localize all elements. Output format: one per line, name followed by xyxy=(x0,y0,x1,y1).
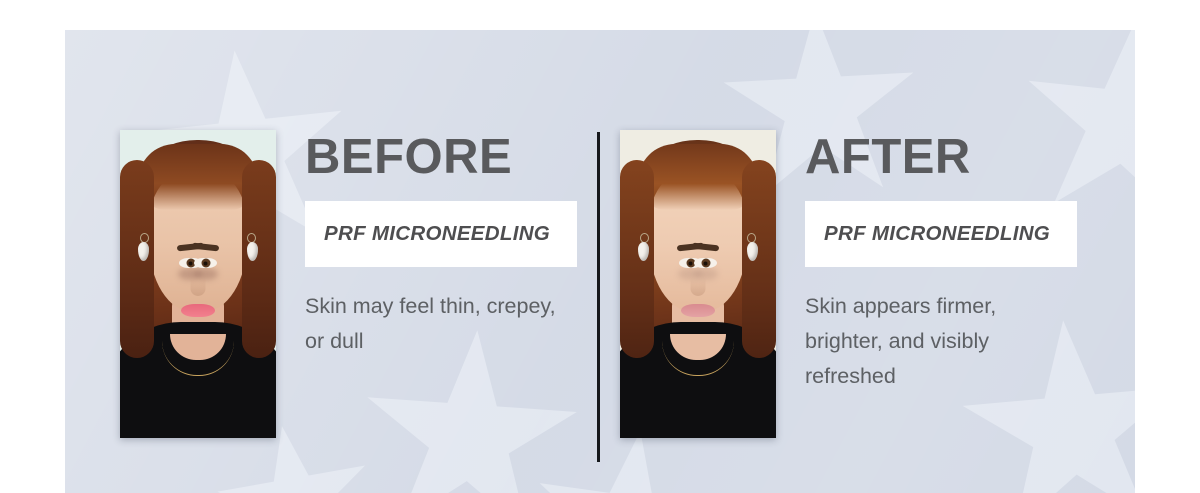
eyebrow-right xyxy=(692,243,719,252)
eyebrow-right xyxy=(192,243,219,252)
before-photo xyxy=(120,130,276,438)
before-treatment-label-box: PRF MICRONEEDLING xyxy=(305,201,577,267)
nose xyxy=(691,270,706,296)
after-heading: AFTER xyxy=(805,130,1090,182)
fringe xyxy=(638,144,758,210)
nose xyxy=(191,270,206,296)
before-treatment-label: PRF MICRONEEDLING xyxy=(305,222,550,246)
hair-strand-left xyxy=(620,160,654,358)
vertical-divider xyxy=(597,132,600,462)
fringe xyxy=(138,144,258,210)
after-text-block: AFTER PRF MICRONEEDLING Skin appears fir… xyxy=(805,130,1090,393)
eye-right xyxy=(194,258,217,268)
after-photo xyxy=(620,130,776,438)
hair-strand-right xyxy=(742,160,776,358)
before-text-block: BEFORE PRF MICRONEEDLING Skin may feel t… xyxy=(305,130,590,359)
comparison-graphic: BEFORE PRF MICRONEEDLING Skin may feel t… xyxy=(0,0,1200,493)
before-description: Skin may feel thin, crepey, or dull xyxy=(305,289,577,359)
eye-right xyxy=(694,258,717,268)
hair-strand-left xyxy=(120,160,154,358)
hair-strand-right xyxy=(242,160,276,358)
after-description: Skin appears firmer, brighter, and visib… xyxy=(805,289,1077,393)
after-treatment-label-box: PRF MICRONEEDLING xyxy=(805,201,1077,267)
lips xyxy=(681,304,715,317)
after-treatment-label: PRF MICRONEEDLING xyxy=(805,222,1050,246)
before-heading: BEFORE xyxy=(305,130,590,182)
lips xyxy=(181,304,215,317)
